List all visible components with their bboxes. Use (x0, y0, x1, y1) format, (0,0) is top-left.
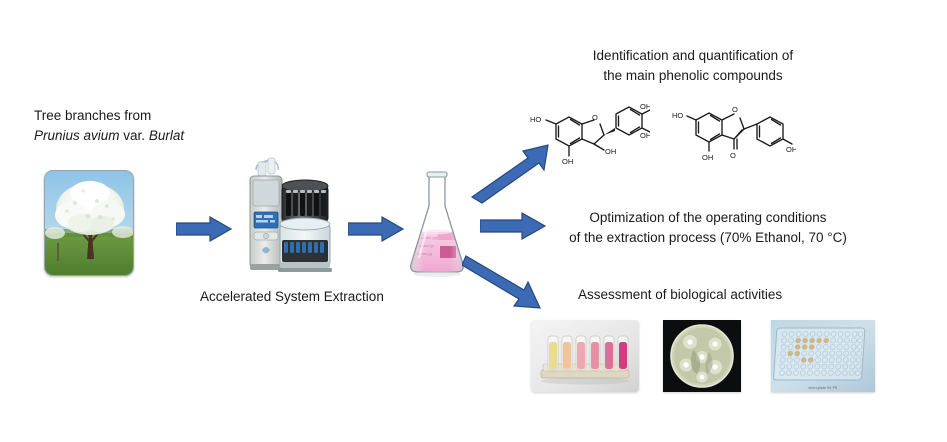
outcome-identification-caption: Identification and quantification of the… (548, 46, 838, 85)
svg-text:O: O (730, 151, 736, 160)
arrow-right-icon (348, 216, 404, 242)
svg-text:O: O (732, 105, 738, 114)
microplate-svg (771, 320, 875, 392)
svg-text:OH: OH (702, 153, 713, 162)
flask-svg: 100 50 25 (404, 168, 470, 278)
svg-text:OH: OH (605, 147, 616, 156)
source-caption: Tree branches from Prunius avium var. Bu… (34, 106, 184, 145)
test-tube-rack-colorimetric-assay (531, 320, 639, 392)
catechin-svg: HO O OH OH OH OH (528, 98, 650, 174)
genistein-svg: HO O OH O OH (672, 98, 796, 176)
tree-photo-svg (45, 171, 133, 275)
accelerated-solvent-extraction-instrument (234, 152, 334, 272)
arrow-instrument-to-flask (348, 216, 404, 247)
arrow-flask-to-bioactivity (462, 250, 548, 321)
petri-dish-svg (663, 320, 741, 392)
arrow-down-right-icon (462, 250, 548, 316)
outcome-identification-line2: the main phenolic compounds (548, 66, 838, 86)
outcome-optimization-line2: of the extraction process (70% Ethanol, … (548, 228, 868, 248)
erlenmeyer-flask-with-pink-extract: 100 50 25 (404, 168, 470, 278)
svg-text:OH: OH (786, 145, 796, 154)
arrow-right-icon (176, 216, 232, 242)
blossoming-cherry-tree-photo (44, 170, 134, 276)
flavan-3-ol-catechin-structure: HO O OH OH OH OH (528, 98, 650, 179)
var-connector: var. (120, 128, 149, 143)
outcome-identification-line1: Identification and quantification of (548, 46, 838, 66)
isoflavone-genistein-structure: HO O OH O OH (672, 98, 796, 181)
outcome-bioactivity-caption: Assessment of biological activities (578, 285, 782, 305)
species-name: Prunius avium (34, 128, 120, 143)
arrow-flask-to-optimization (480, 212, 546, 245)
graphical-abstract: Tree branches from Prunius avium var. Bu… (0, 0, 947, 442)
svg-text:OH: OH (640, 102, 650, 111)
arrow-source-to-instrument (176, 216, 232, 247)
source-caption-line2: Prunius avium var. Burlat (34, 126, 184, 146)
cultivar-name: Burlat (149, 128, 184, 143)
svg-text:OH: OH (562, 157, 573, 166)
svg-text:HO: HO (530, 115, 541, 124)
microplate-caption: microplate 96 PS (771, 386, 875, 390)
ase-instrument-svg (234, 152, 334, 276)
svg-text:O: O (592, 113, 598, 122)
test-tubes-svg (531, 320, 639, 392)
arrow-right-icon (480, 212, 546, 240)
outcome-optimization-caption: Optimization of the operating conditions… (548, 208, 868, 247)
96-well-microplate-assay: microplate 96 PS (771, 320, 875, 392)
outcome-optimization-line1: Optimization of the operating conditions (548, 208, 868, 228)
instrument-caption: Accelerated System Extraction (200, 287, 384, 307)
petri-dish-disk-diffusion-assay (663, 320, 741, 392)
source-caption-line1: Tree branches from (34, 106, 184, 126)
svg-text:OH: OH (640, 131, 650, 140)
svg-text:HO: HO (672, 111, 683, 120)
